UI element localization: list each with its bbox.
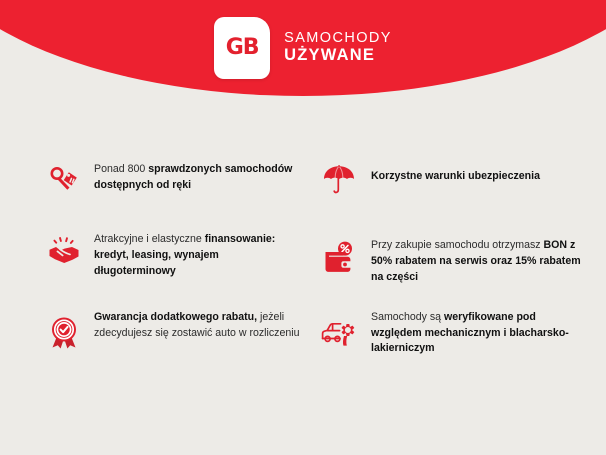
handshake-icon [44, 232, 84, 272]
benefits-column-left: Ponad 800 sprawdzonych samochodów dostęp… [0, 160, 303, 383]
wallet-percent-icon [319, 238, 359, 278]
benefit-text: Samochody są weryfikowane pod względem m… [371, 308, 586, 358]
benefit-text: Ponad 800 sprawdzonych samochodów dostęp… [94, 160, 303, 194]
logo-wordmark-line2: UŻYWANE [284, 47, 392, 64]
umbrella-icon [319, 160, 359, 200]
benefit-item: Przy zakupie samochodu otrzymasz BON z 5… [319, 236, 606, 286]
logo-tile: GB [214, 17, 270, 79]
logo-wordmark-line1: SAMOCHODY [284, 31, 392, 46]
benefit-item: Gwarancja dodatkowego rabatu, jeżeli zde… [44, 308, 303, 352]
benefits-section: Ponad 800 sprawdzonych samochodów dostęp… [0, 160, 606, 383]
header-banner: GB SAMOCHODY UŻYWANE [0, 0, 606, 96]
brand-logo[interactable]: GB SAMOCHODY UŻYWANE [0, 0, 606, 96]
benefit-text: Korzystne warunki ubezpieczenia [371, 160, 540, 185]
benefit-item: Atrakcyjne i elastyczne finansowanie: kr… [44, 230, 303, 280]
benefits-column-right: Korzystne warunki ubezpieczenia [303, 160, 606, 383]
award-rosette-check-icon [44, 312, 84, 352]
car-key-tag-icon [44, 160, 84, 200]
benefit-item: Ponad 800 sprawdzonych samochodów dostęp… [44, 160, 303, 200]
benefit-text: Gwarancja dodatkowego rabatu, jeżeli zde… [94, 308, 303, 342]
benefit-text: Atrakcyjne i elastyczne finansowanie: kr… [94, 230, 303, 280]
benefit-item: Samochody są weryfikowane pod względem m… [319, 308, 606, 358]
logo-gb-mark: GB [226, 37, 259, 59]
logo-wordmark: SAMOCHODY UŻYWANE [284, 31, 392, 65]
benefit-text: Przy zakupie samochodu otrzymasz BON z 5… [371, 236, 586, 286]
benefit-item: Korzystne warunki ubezpieczenia [319, 160, 606, 200]
car-wrench-icon [319, 312, 359, 352]
